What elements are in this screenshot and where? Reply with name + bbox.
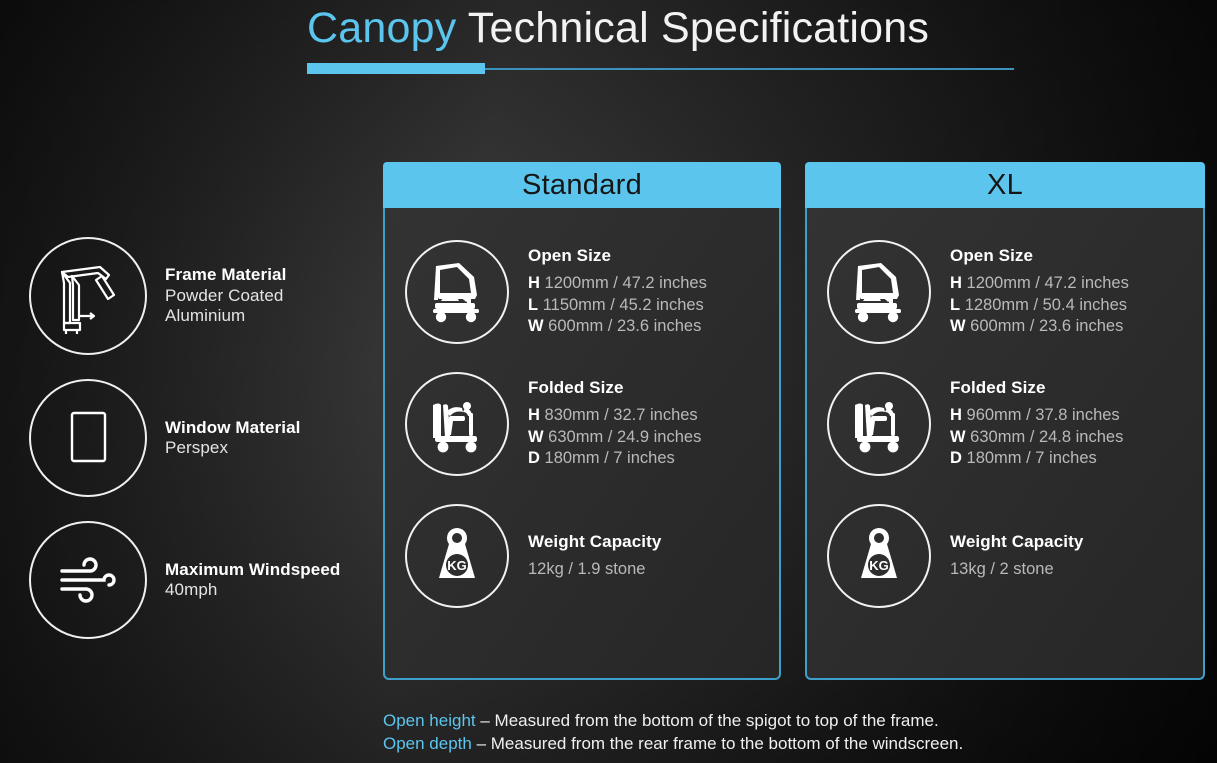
- footnote-text: – Measured from the bottom of the spigot…: [476, 711, 939, 730]
- spec-line: W 630mm / 24.9 inches: [528, 427, 701, 449]
- spec-dim: H: [950, 274, 962, 292]
- feature-sub-line-2: Aluminium: [165, 306, 286, 326]
- spec-card-header-standard: Standard: [383, 162, 781, 208]
- spec-line: H 960mm / 37.8 inches: [950, 405, 1123, 427]
- title-rule-thick: [307, 63, 485, 74]
- spec-value: 13kg / 2 stone: [950, 559, 1083, 581]
- spec-card-header-label: XL: [987, 169, 1023, 202]
- spec-dim: L: [528, 296, 538, 314]
- footnote-open-depth: Open depth – Measured from the rear fram…: [383, 732, 1183, 755]
- feature-sub-line-1: Perspex: [165, 438, 300, 458]
- spec-title: Weight Capacity: [528, 532, 661, 552]
- page-title-rest: Technical Specifications: [456, 4, 929, 52]
- feature-text: Maximum Windspeed 40mph: [165, 560, 340, 601]
- spec-value: 180mm / 7 inches: [967, 449, 1097, 467]
- feature-item-frame-material: Frame Material Powder Coated Aluminium: [29, 236, 379, 356]
- spec-value: 960mm / 37.8 inches: [967, 406, 1120, 424]
- footnote-key: Open depth: [383, 734, 472, 753]
- feature-item-max-windspeed: Maximum Windspeed 40mph: [29, 520, 379, 640]
- spec-line: H 1200mm / 47.2 inches: [528, 273, 707, 295]
- spec-text: Folded Size H 830mm / 32.7 inches W 630m…: [528, 378, 701, 470]
- spec-row-weight-capacity: KG Weight Capacity 13kg / 2 stone: [807, 490, 1203, 622]
- weight-kg-icon: KG: [405, 504, 509, 608]
- spec-dim: H: [528, 274, 540, 292]
- spec-line: W 600mm / 23.6 inches: [950, 316, 1129, 338]
- spec-card-body: Open Size H 1200mm / 47.2 inches L 1150m…: [383, 208, 781, 680]
- spec-dim: W: [950, 317, 966, 335]
- spec-value: 1200mm / 47.2 inches: [967, 274, 1129, 292]
- spec-line: D 180mm / 7 inches: [528, 448, 701, 470]
- spec-text: Weight Capacity 13kg / 2 stone: [950, 532, 1083, 581]
- spec-row-folded-size: Folded Size H 830mm / 32.7 inches W 630m…: [385, 358, 779, 490]
- spec-value: 630mm / 24.8 inches: [970, 428, 1123, 446]
- footnote-text: – Measured from the rear frame to the bo…: [472, 734, 963, 753]
- spec-value: 630mm / 24.9 inches: [548, 428, 701, 446]
- spec-value: 600mm / 23.6 inches: [548, 317, 701, 335]
- spec-value: 180mm / 7 inches: [545, 449, 675, 467]
- footnote-key: Open height: [383, 711, 476, 730]
- spec-card-standard: Standard: [383, 162, 781, 680]
- page: Canopy Technical Specifications: [0, 0, 1217, 763]
- footnote-list: Open height – Measured from the bottom o…: [383, 709, 1183, 756]
- feature-item-window-material: Window Material Perspex: [29, 378, 379, 498]
- spec-dim: D: [950, 449, 962, 467]
- spec-text: Open Size H 1200mm / 47.2 inches L 1280m…: [950, 246, 1129, 338]
- spec-text: Folded Size H 960mm / 37.8 inches W 630m…: [950, 378, 1123, 470]
- spec-line: W 630mm / 24.8 inches: [950, 427, 1123, 449]
- footnote-open-height: Open height – Measured from the bottom o…: [383, 709, 1183, 732]
- feature-title: Frame Material: [165, 265, 286, 285]
- weight-kg-icon: KG: [827, 504, 931, 608]
- spec-line: W 600mm / 23.6 inches: [528, 316, 707, 338]
- spec-dim: H: [528, 406, 540, 424]
- spec-value: 1200mm / 47.2 inches: [545, 274, 707, 292]
- spec-dim: D: [528, 449, 540, 467]
- spec-dim: W: [950, 428, 966, 446]
- spec-value: 1150mm / 45.2 inches: [543, 296, 704, 314]
- title-rule: [307, 63, 1014, 73]
- canopy-frame-icon: [29, 237, 147, 355]
- spec-value: 600mm / 23.6 inches: [970, 317, 1123, 335]
- spec-card-xl: XL: [805, 162, 1205, 680]
- spec-value: 830mm / 32.7 inches: [545, 406, 698, 424]
- spec-row-open-size: Open Size H 1200mm / 47.2 inches L 1150m…: [385, 226, 779, 358]
- feature-text: Window Material Perspex: [165, 418, 300, 459]
- spec-line: H 830mm / 32.7 inches: [528, 405, 701, 427]
- feature-sub-line-1: 40mph: [165, 580, 340, 600]
- feature-list: Frame Material Powder Coated Aluminium W…: [29, 236, 379, 640]
- spec-card-header-label: Standard: [522, 169, 642, 202]
- feature-title: Window Material: [165, 418, 300, 438]
- wind-icon: [29, 521, 147, 639]
- scooter-canopy-folded-icon: [405, 372, 509, 476]
- spec-card-body: Open Size H 1200mm / 47.2 inches L 1280m…: [805, 208, 1205, 680]
- spec-text: Weight Capacity 12kg / 1.9 stone: [528, 532, 661, 581]
- spec-dim: H: [950, 406, 962, 424]
- page-title: Canopy Technical Specifications: [307, 4, 1027, 52]
- spec-text: Open Size H 1200mm / 47.2 inches L 1150m…: [528, 246, 707, 338]
- spec-card-header-xl: XL: [805, 162, 1205, 208]
- scooter-canopy-open-icon: [827, 240, 931, 344]
- spec-dim: L: [950, 296, 960, 314]
- feature-title: Maximum Windspeed: [165, 560, 340, 580]
- spec-title: Weight Capacity: [950, 532, 1083, 552]
- svg-text:KG: KG: [869, 558, 889, 573]
- spec-value: 12kg / 1.9 stone: [528, 559, 661, 581]
- spec-line: L 1150mm / 45.2 inches: [528, 295, 707, 317]
- spec-row-open-size: Open Size H 1200mm / 47.2 inches L 1280m…: [807, 226, 1203, 358]
- spec-dim: W: [528, 428, 544, 446]
- feature-text: Frame Material Powder Coated Aluminium: [165, 265, 286, 326]
- spec-row-weight-capacity: KG Weight Capacity 12kg / 1.9 stone: [385, 490, 779, 622]
- spec-line: L 1280mm / 50.4 inches: [950, 295, 1129, 317]
- spec-title: Open Size: [950, 246, 1129, 266]
- spec-value: 1280mm / 50.4 inches: [965, 296, 1127, 314]
- spec-title: Folded Size: [528, 378, 701, 398]
- spec-title: Open Size: [528, 246, 707, 266]
- window-pane-icon: [29, 379, 147, 497]
- spec-dim: W: [528, 317, 544, 335]
- spec-title: Folded Size: [950, 378, 1123, 398]
- spec-line: H 1200mm / 47.2 inches: [950, 273, 1129, 295]
- spec-row-folded-size: Folded Size H 960mm / 37.8 inches W 630m…: [807, 358, 1203, 490]
- feature-sub-line-1: Powder Coated: [165, 286, 286, 306]
- scooter-canopy-open-icon: [405, 240, 509, 344]
- scooter-canopy-folded-icon: [827, 372, 931, 476]
- spec-line: D 180mm / 7 inches: [950, 448, 1123, 470]
- svg-text:KG: KG: [447, 558, 467, 573]
- page-title-accent: Canopy: [307, 4, 456, 52]
